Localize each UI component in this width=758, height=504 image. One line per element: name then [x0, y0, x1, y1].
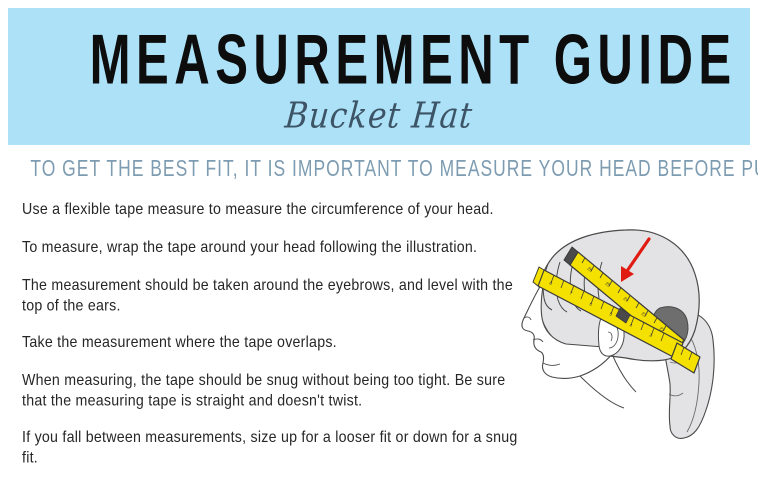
- subheading: TO GET THE BEST FIT, IT IS IMPORTANT TO …: [30, 157, 727, 183]
- instructions-list: Use a flexible tape measure to measure t…: [22, 200, 522, 466]
- page-title: MEASUREMENT GUIDE: [90, 24, 669, 96]
- instruction-paragraph: When measuring, the tape should be snug …: [22, 371, 522, 412]
- measurement-guide-page: MEASUREMENT GUIDE Bucket Hat TO GET THE …: [0, 0, 758, 504]
- instruction-paragraph: Take the measurement where the tape over…: [22, 333, 522, 354]
- header-banner: MEASUREMENT GUIDE Bucket Hat: [8, 8, 750, 145]
- instruction-paragraph: Use a flexible tape measure to measure t…: [22, 200, 522, 221]
- page-subtitle: Bucket Hat: [8, 95, 750, 136]
- head-measurement-illustration: 26 25 24 23 22: [508, 212, 758, 502]
- instruction-paragraph: If you fall between measurements, size u…: [22, 428, 522, 469]
- instruction-paragraph: To measure, wrap the tape around your he…: [22, 238, 522, 259]
- instruction-paragraph: The measurement should be taken around t…: [22, 276, 522, 317]
